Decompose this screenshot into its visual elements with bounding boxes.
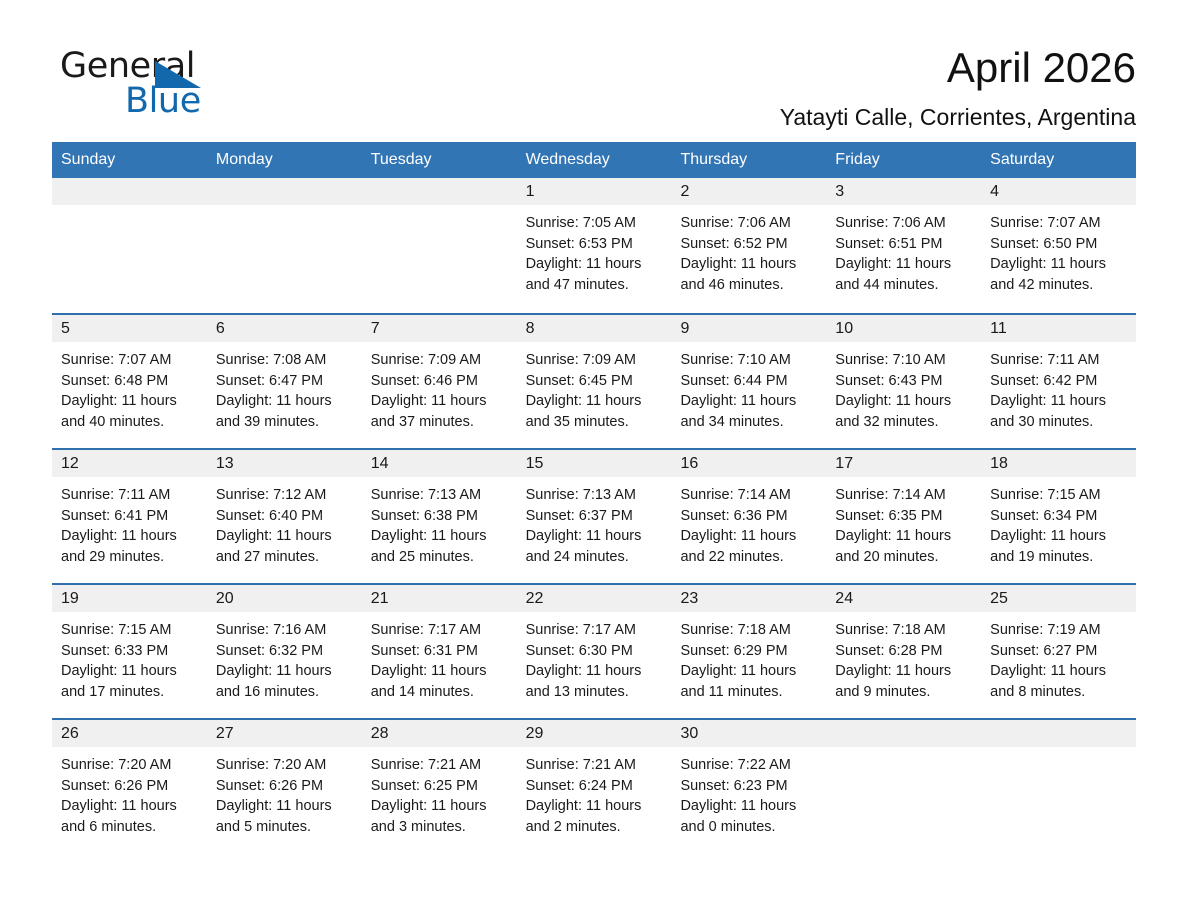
day-number-band: 6 xyxy=(207,315,362,342)
weekday-header-friday: Friday xyxy=(826,142,981,178)
week-row: 1 Sunrise: 7:05 AM Sunset: 6:53 PM Dayli… xyxy=(52,178,1136,313)
day-number-band: 7 xyxy=(362,315,517,342)
weekday-header-monday: Monday xyxy=(207,142,362,178)
day-cell[interactable]: 18 Sunrise: 7:15 AM Sunset: 6:34 PM Dayl… xyxy=(981,450,1136,583)
sunset-text: Sunset: 6:53 PM xyxy=(526,234,666,255)
sunset-text: Sunset: 6:26 PM xyxy=(61,776,201,797)
daylight-text: Daylight: 11 hours and 39 minutes. xyxy=(216,391,356,432)
sunrise-text: Sunrise: 7:10 AM xyxy=(680,350,820,371)
sunset-text: Sunset: 6:46 PM xyxy=(371,371,511,392)
day-number: 16 xyxy=(671,450,826,477)
calendar-grid: Sunday Monday Tuesday Wednesday Thursday… xyxy=(52,142,1136,853)
daylight-text: Daylight: 11 hours and 9 minutes. xyxy=(835,661,975,702)
day-number-band: 22 xyxy=(517,585,672,612)
sunset-text: Sunset: 6:51 PM xyxy=(835,234,975,255)
day-number: 30 xyxy=(671,720,826,747)
sunrise-text: Sunrise: 7:11 AM xyxy=(990,350,1130,371)
day-cell[interactable]: 30 Sunrise: 7:22 AM Sunset: 6:23 PM Dayl… xyxy=(671,720,826,853)
day-info: Sunrise: 7:10 AM Sunset: 6:43 PM Dayligh… xyxy=(826,342,981,432)
day-number-band xyxy=(52,178,207,205)
day-number: 14 xyxy=(362,450,517,477)
day-number: 13 xyxy=(207,450,362,477)
daylight-text: Daylight: 11 hours and 30 minutes. xyxy=(990,391,1130,432)
week-row: 19 Sunrise: 7:15 AM Sunset: 6:33 PM Dayl… xyxy=(52,583,1136,718)
day-info: Sunrise: 7:05 AM Sunset: 6:53 PM Dayligh… xyxy=(517,205,672,295)
daylight-text: Daylight: 11 hours and 3 minutes. xyxy=(371,796,511,837)
sunrise-text: Sunrise: 7:18 AM xyxy=(680,620,820,641)
day-number: 24 xyxy=(826,585,981,612)
day-cell[interactable]: 13 Sunrise: 7:12 AM Sunset: 6:40 PM Dayl… xyxy=(207,450,362,583)
sunset-text: Sunset: 6:41 PM xyxy=(61,506,201,527)
day-number-band: 15 xyxy=(517,450,672,477)
day-number-band: 18 xyxy=(981,450,1136,477)
sunrise-text: Sunrise: 7:14 AM xyxy=(835,485,975,506)
sunset-text: Sunset: 6:24 PM xyxy=(526,776,666,797)
sunset-text: Sunset: 6:31 PM xyxy=(371,641,511,662)
day-cell xyxy=(52,178,207,313)
day-cell[interactable]: 24 Sunrise: 7:18 AM Sunset: 6:28 PM Dayl… xyxy=(826,585,981,718)
daylight-text: Daylight: 11 hours and 47 minutes. xyxy=(526,254,666,295)
daylight-text: Daylight: 11 hours and 24 minutes. xyxy=(526,526,666,567)
day-cell[interactable]: 8 Sunrise: 7:09 AM Sunset: 6:45 PM Dayli… xyxy=(517,315,672,448)
day-cell xyxy=(826,720,981,853)
sunset-text: Sunset: 6:27 PM xyxy=(990,641,1130,662)
day-info: Sunrise: 7:09 AM Sunset: 6:46 PM Dayligh… xyxy=(362,342,517,432)
sunrise-text: Sunrise: 7:20 AM xyxy=(216,755,356,776)
weekday-header-thursday: Thursday xyxy=(671,142,826,178)
daylight-text: Daylight: 11 hours and 25 minutes. xyxy=(371,526,511,567)
calendar-page: General Blue April 2026 Yatayti Calle, C… xyxy=(0,0,1188,918)
day-info: Sunrise: 7:13 AM Sunset: 6:38 PM Dayligh… xyxy=(362,477,517,567)
sunset-text: Sunset: 6:30 PM xyxy=(526,641,666,662)
day-number-band: 14 xyxy=(362,450,517,477)
sunset-text: Sunset: 6:43 PM xyxy=(835,371,975,392)
daylight-text: Daylight: 11 hours and 32 minutes. xyxy=(835,391,975,432)
day-number-band xyxy=(207,178,362,205)
day-info: Sunrise: 7:11 AM Sunset: 6:42 PM Dayligh… xyxy=(981,342,1136,432)
day-info: Sunrise: 7:19 AM Sunset: 6:27 PM Dayligh… xyxy=(981,612,1136,702)
day-number: 26 xyxy=(52,720,207,747)
day-cell[interactable]: 10 Sunrise: 7:10 AM Sunset: 6:43 PM Dayl… xyxy=(826,315,981,448)
sunrise-text: Sunrise: 7:07 AM xyxy=(990,213,1130,234)
day-number-band: 30 xyxy=(671,720,826,747)
weekday-header-saturday: Saturday xyxy=(981,142,1136,178)
day-number-band: 19 xyxy=(52,585,207,612)
day-number: 8 xyxy=(517,315,672,342)
day-number-band: 10 xyxy=(826,315,981,342)
sunset-text: Sunset: 6:29 PM xyxy=(680,641,820,662)
day-number-band: 29 xyxy=(517,720,672,747)
day-number-band: 16 xyxy=(671,450,826,477)
day-number: 2 xyxy=(671,178,826,205)
day-cell[interactable]: 27 Sunrise: 7:20 AM Sunset: 6:26 PM Dayl… xyxy=(207,720,362,853)
day-number-band xyxy=(826,720,981,747)
day-cell[interactable]: 16 Sunrise: 7:14 AM Sunset: 6:36 PM Dayl… xyxy=(671,450,826,583)
day-cell[interactable]: 6 Sunrise: 7:08 AM Sunset: 6:47 PM Dayli… xyxy=(207,315,362,448)
day-number-band: 3 xyxy=(826,178,981,205)
day-number: 20 xyxy=(207,585,362,612)
day-cell[interactable]: 25 Sunrise: 7:19 AM Sunset: 6:27 PM Dayl… xyxy=(981,585,1136,718)
day-number: 19 xyxy=(52,585,207,612)
sunset-text: Sunset: 6:42 PM xyxy=(990,371,1130,392)
daylight-text: Daylight: 11 hours and 29 minutes. xyxy=(61,526,201,567)
day-number-band: 12 xyxy=(52,450,207,477)
sunrise-text: Sunrise: 7:11 AM xyxy=(61,485,201,506)
daylight-text: Daylight: 11 hours and 34 minutes. xyxy=(680,391,820,432)
day-number: 9 xyxy=(671,315,826,342)
sunrise-text: Sunrise: 7:19 AM xyxy=(990,620,1130,641)
day-number-band xyxy=(981,720,1136,747)
sunrise-text: Sunrise: 7:15 AM xyxy=(61,620,201,641)
day-number: 12 xyxy=(52,450,207,477)
day-number-band: 26 xyxy=(52,720,207,747)
daylight-text: Daylight: 11 hours and 16 minutes. xyxy=(216,661,356,702)
sunrise-text: Sunrise: 7:06 AM xyxy=(680,213,820,234)
day-info: Sunrise: 7:06 AM Sunset: 6:51 PM Dayligh… xyxy=(826,205,981,295)
daylight-text: Daylight: 11 hours and 42 minutes. xyxy=(990,254,1130,295)
sunset-text: Sunset: 6:28 PM xyxy=(835,641,975,662)
sunrise-text: Sunrise: 7:21 AM xyxy=(526,755,666,776)
day-number: 10 xyxy=(826,315,981,342)
day-number-band: 5 xyxy=(52,315,207,342)
sunrise-text: Sunrise: 7:13 AM xyxy=(526,485,666,506)
day-cell[interactable]: 26 Sunrise: 7:20 AM Sunset: 6:26 PM Dayl… xyxy=(52,720,207,853)
sunrise-text: Sunrise: 7:09 AM xyxy=(526,350,666,371)
day-number-band: 2 xyxy=(671,178,826,205)
daylight-text: Daylight: 11 hours and 2 minutes. xyxy=(526,796,666,837)
sunset-text: Sunset: 6:38 PM xyxy=(371,506,511,527)
day-info: Sunrise: 7:12 AM Sunset: 6:40 PM Dayligh… xyxy=(207,477,362,567)
sunrise-text: Sunrise: 7:22 AM xyxy=(680,755,820,776)
sunrise-text: Sunrise: 7:12 AM xyxy=(216,485,356,506)
day-info xyxy=(52,205,207,213)
day-cell[interactable]: 1 Sunrise: 7:05 AM Sunset: 6:53 PM Dayli… xyxy=(517,178,672,313)
daylight-text: Daylight: 11 hours and 37 minutes. xyxy=(371,391,511,432)
day-number-band: 13 xyxy=(207,450,362,477)
day-number-band: 17 xyxy=(826,450,981,477)
day-cell[interactable]: 29 Sunrise: 7:21 AM Sunset: 6:24 PM Dayl… xyxy=(517,720,672,853)
weekday-header-tuesday: Tuesday xyxy=(362,142,517,178)
day-cell[interactable]: 11 Sunrise: 7:11 AM Sunset: 6:42 PM Dayl… xyxy=(981,315,1136,448)
day-info: Sunrise: 7:15 AM Sunset: 6:34 PM Dayligh… xyxy=(981,477,1136,567)
sunrise-text: Sunrise: 7:06 AM xyxy=(835,213,975,234)
day-number-band: 25 xyxy=(981,585,1136,612)
day-info: Sunrise: 7:10 AM Sunset: 6:44 PM Dayligh… xyxy=(671,342,826,432)
day-number: 17 xyxy=(826,450,981,477)
day-number: 27 xyxy=(207,720,362,747)
daylight-text: Daylight: 11 hours and 46 minutes. xyxy=(680,254,820,295)
day-info: Sunrise: 7:17 AM Sunset: 6:30 PM Dayligh… xyxy=(517,612,672,702)
day-number: 18 xyxy=(981,450,1136,477)
day-cell[interactable]: 5 Sunrise: 7:07 AM Sunset: 6:48 PM Dayli… xyxy=(52,315,207,448)
generalblue-logo[interactable]: General Blue xyxy=(52,44,252,118)
sunrise-text: Sunrise: 7:20 AM xyxy=(61,755,201,776)
day-info: Sunrise: 7:18 AM Sunset: 6:29 PM Dayligh… xyxy=(671,612,826,702)
sunrise-text: Sunrise: 7:13 AM xyxy=(371,485,511,506)
sunset-text: Sunset: 6:52 PM xyxy=(680,234,820,255)
day-number: 6 xyxy=(207,315,362,342)
week-row: 26 Sunrise: 7:20 AM Sunset: 6:26 PM Dayl… xyxy=(52,718,1136,853)
day-info: Sunrise: 7:11 AM Sunset: 6:41 PM Dayligh… xyxy=(52,477,207,567)
week-row: 12 Sunrise: 7:11 AM Sunset: 6:41 PM Dayl… xyxy=(52,448,1136,583)
day-info: Sunrise: 7:07 AM Sunset: 6:50 PM Dayligh… xyxy=(981,205,1136,295)
sunset-text: Sunset: 6:23 PM xyxy=(680,776,820,797)
sunset-text: Sunset: 6:34 PM xyxy=(990,506,1130,527)
daylight-text: Daylight: 11 hours and 17 minutes. xyxy=(61,661,201,702)
day-info: Sunrise: 7:20 AM Sunset: 6:26 PM Dayligh… xyxy=(207,747,362,837)
weekday-header-wednesday: Wednesday xyxy=(517,142,672,178)
sunset-text: Sunset: 6:44 PM xyxy=(680,371,820,392)
day-number: 1 xyxy=(517,178,672,205)
day-number-band: 28 xyxy=(362,720,517,747)
day-number-band: 23 xyxy=(671,585,826,612)
sunset-text: Sunset: 6:26 PM xyxy=(216,776,356,797)
sunset-text: Sunset: 6:33 PM xyxy=(61,641,201,662)
day-info: Sunrise: 7:17 AM Sunset: 6:31 PM Dayligh… xyxy=(362,612,517,702)
day-number: 15 xyxy=(517,450,672,477)
daylight-text: Daylight: 11 hours and 5 minutes. xyxy=(216,796,356,837)
daylight-text: Daylight: 11 hours and 22 minutes. xyxy=(680,526,820,567)
sunset-text: Sunset: 6:37 PM xyxy=(526,506,666,527)
day-info xyxy=(826,747,981,755)
daylight-text: Daylight: 11 hours and 20 minutes. xyxy=(835,526,975,567)
day-cell[interactable]: 7 Sunrise: 7:09 AM Sunset: 6:46 PM Dayli… xyxy=(362,315,517,448)
day-number-band: 21 xyxy=(362,585,517,612)
sunrise-text: Sunrise: 7:16 AM xyxy=(216,620,356,641)
day-cell[interactable]: 23 Sunrise: 7:18 AM Sunset: 6:29 PM Dayl… xyxy=(671,585,826,718)
day-info: Sunrise: 7:20 AM Sunset: 6:26 PM Dayligh… xyxy=(52,747,207,837)
daylight-text: Daylight: 11 hours and 6 minutes. xyxy=(61,796,201,837)
day-cell[interactable]: 28 Sunrise: 7:21 AM Sunset: 6:25 PM Dayl… xyxy=(362,720,517,853)
day-number: 25 xyxy=(981,585,1136,612)
day-number-band: 8 xyxy=(517,315,672,342)
sunrise-text: Sunrise: 7:17 AM xyxy=(371,620,511,641)
daylight-text: Daylight: 11 hours and 27 minutes. xyxy=(216,526,356,567)
day-info: Sunrise: 7:21 AM Sunset: 6:25 PM Dayligh… xyxy=(362,747,517,837)
sunset-text: Sunset: 6:35 PM xyxy=(835,506,975,527)
day-cell[interactable]: 14 Sunrise: 7:13 AM Sunset: 6:38 PM Dayl… xyxy=(362,450,517,583)
day-number: 3 xyxy=(826,178,981,205)
day-info: Sunrise: 7:15 AM Sunset: 6:33 PM Dayligh… xyxy=(52,612,207,702)
title-block: April 2026 Yatayti Calle, Corrientes, Ar… xyxy=(780,44,1136,131)
day-cell xyxy=(207,178,362,313)
day-cell[interactable]: 20 Sunrise: 7:16 AM Sunset: 6:32 PM Dayl… xyxy=(207,585,362,718)
sunrise-text: Sunrise: 7:10 AM xyxy=(835,350,975,371)
day-number-band: 20 xyxy=(207,585,362,612)
weekday-header-row: Sunday Monday Tuesday Wednesday Thursday… xyxy=(52,142,1136,178)
daylight-text: Daylight: 11 hours and 35 minutes. xyxy=(526,391,666,432)
sunrise-text: Sunrise: 7:05 AM xyxy=(526,213,666,234)
daylight-text: Daylight: 11 hours and 19 minutes. xyxy=(990,526,1130,567)
day-cell[interactable]: 17 Sunrise: 7:14 AM Sunset: 6:35 PM Dayl… xyxy=(826,450,981,583)
sunrise-text: Sunrise: 7:17 AM xyxy=(526,620,666,641)
day-number-band: 9 xyxy=(671,315,826,342)
page-subtitle: Yatayti Calle, Corrientes, Argentina xyxy=(780,104,1136,131)
day-cell[interactable]: 3 Sunrise: 7:06 AM Sunset: 6:51 PM Dayli… xyxy=(826,178,981,313)
day-info: Sunrise: 7:09 AM Sunset: 6:45 PM Dayligh… xyxy=(517,342,672,432)
day-number: 29 xyxy=(517,720,672,747)
day-cell[interactable]: 15 Sunrise: 7:13 AM Sunset: 6:37 PM Dayl… xyxy=(517,450,672,583)
day-number: 23 xyxy=(671,585,826,612)
sunset-text: Sunset: 6:25 PM xyxy=(371,776,511,797)
day-number-band xyxy=(362,178,517,205)
day-cell[interactable]: 4 Sunrise: 7:07 AM Sunset: 6:50 PM Dayli… xyxy=(981,178,1136,313)
sunset-text: Sunset: 6:36 PM xyxy=(680,506,820,527)
daylight-text: Daylight: 11 hours and 14 minutes. xyxy=(371,661,511,702)
day-number-band: 11 xyxy=(981,315,1136,342)
day-number: 11 xyxy=(981,315,1136,342)
page-title: April 2026 xyxy=(780,46,1136,90)
logo-text-blue: Blue xyxy=(125,81,201,121)
day-info: Sunrise: 7:22 AM Sunset: 6:23 PM Dayligh… xyxy=(671,747,826,837)
daylight-text: Daylight: 11 hours and 11 minutes. xyxy=(680,661,820,702)
daylight-text: Daylight: 11 hours and 40 minutes. xyxy=(61,391,201,432)
sunrise-text: Sunrise: 7:09 AM xyxy=(371,350,511,371)
sunset-text: Sunset: 6:50 PM xyxy=(990,234,1130,255)
sunrise-text: Sunrise: 7:15 AM xyxy=(990,485,1130,506)
day-number: 22 xyxy=(517,585,672,612)
day-info xyxy=(207,205,362,213)
day-cell[interactable]: 9 Sunrise: 7:10 AM Sunset: 6:44 PM Dayli… xyxy=(671,315,826,448)
sunset-text: Sunset: 6:32 PM xyxy=(216,641,356,662)
sunrise-text: Sunrise: 7:07 AM xyxy=(61,350,201,371)
day-number-band: 4 xyxy=(981,178,1136,205)
day-cell xyxy=(981,720,1136,853)
day-info: Sunrise: 7:13 AM Sunset: 6:37 PM Dayligh… xyxy=(517,477,672,567)
day-cell[interactable]: 21 Sunrise: 7:17 AM Sunset: 6:31 PM Dayl… xyxy=(362,585,517,718)
day-number: 7 xyxy=(362,315,517,342)
sunrise-text: Sunrise: 7:18 AM xyxy=(835,620,975,641)
sunrise-text: Sunrise: 7:14 AM xyxy=(680,485,820,506)
day-number-band: 24 xyxy=(826,585,981,612)
daylight-text: Daylight: 11 hours and 8 minutes. xyxy=(990,661,1130,702)
day-info: Sunrise: 7:21 AM Sunset: 6:24 PM Dayligh… xyxy=(517,747,672,837)
day-number: 5 xyxy=(52,315,207,342)
day-number: 4 xyxy=(981,178,1136,205)
day-number-band: 27 xyxy=(207,720,362,747)
day-info: Sunrise: 7:07 AM Sunset: 6:48 PM Dayligh… xyxy=(52,342,207,432)
day-info xyxy=(362,205,517,213)
day-info: Sunrise: 7:08 AM Sunset: 6:47 PM Dayligh… xyxy=(207,342,362,432)
sunset-text: Sunset: 6:47 PM xyxy=(216,371,356,392)
day-number: 21 xyxy=(362,585,517,612)
day-info: Sunrise: 7:14 AM Sunset: 6:36 PM Dayligh… xyxy=(671,477,826,567)
day-number-band: 1 xyxy=(517,178,672,205)
day-info: Sunrise: 7:06 AM Sunset: 6:52 PM Dayligh… xyxy=(671,205,826,295)
daylight-text: Daylight: 11 hours and 44 minutes. xyxy=(835,254,975,295)
day-cell[interactable]: 22 Sunrise: 7:17 AM Sunset: 6:30 PM Dayl… xyxy=(517,585,672,718)
page-header: General Blue April 2026 Yatayti Calle, C… xyxy=(52,0,1136,128)
day-cell[interactable]: 12 Sunrise: 7:11 AM Sunset: 6:41 PM Dayl… xyxy=(52,450,207,583)
sunset-text: Sunset: 6:40 PM xyxy=(216,506,356,527)
day-number: 28 xyxy=(362,720,517,747)
day-cell[interactable]: 19 Sunrise: 7:15 AM Sunset: 6:33 PM Dayl… xyxy=(52,585,207,718)
sunrise-text: Sunrise: 7:08 AM xyxy=(216,350,356,371)
daylight-text: Daylight: 11 hours and 13 minutes. xyxy=(526,661,666,702)
day-info: Sunrise: 7:16 AM Sunset: 6:32 PM Dayligh… xyxy=(207,612,362,702)
day-info: Sunrise: 7:18 AM Sunset: 6:28 PM Dayligh… xyxy=(826,612,981,702)
week-row: 5 Sunrise: 7:07 AM Sunset: 6:48 PM Dayli… xyxy=(52,313,1136,448)
daylight-text: Daylight: 11 hours and 0 minutes. xyxy=(680,796,820,837)
weekday-header-sunday: Sunday xyxy=(52,142,207,178)
sunset-text: Sunset: 6:45 PM xyxy=(526,371,666,392)
day-cell[interactable]: 2 Sunrise: 7:06 AM Sunset: 6:52 PM Dayli… xyxy=(671,178,826,313)
sunrise-text: Sunrise: 7:21 AM xyxy=(371,755,511,776)
day-info xyxy=(981,747,1136,755)
day-info: Sunrise: 7:14 AM Sunset: 6:35 PM Dayligh… xyxy=(826,477,981,567)
sunset-text: Sunset: 6:48 PM xyxy=(61,371,201,392)
day-cell xyxy=(362,178,517,313)
